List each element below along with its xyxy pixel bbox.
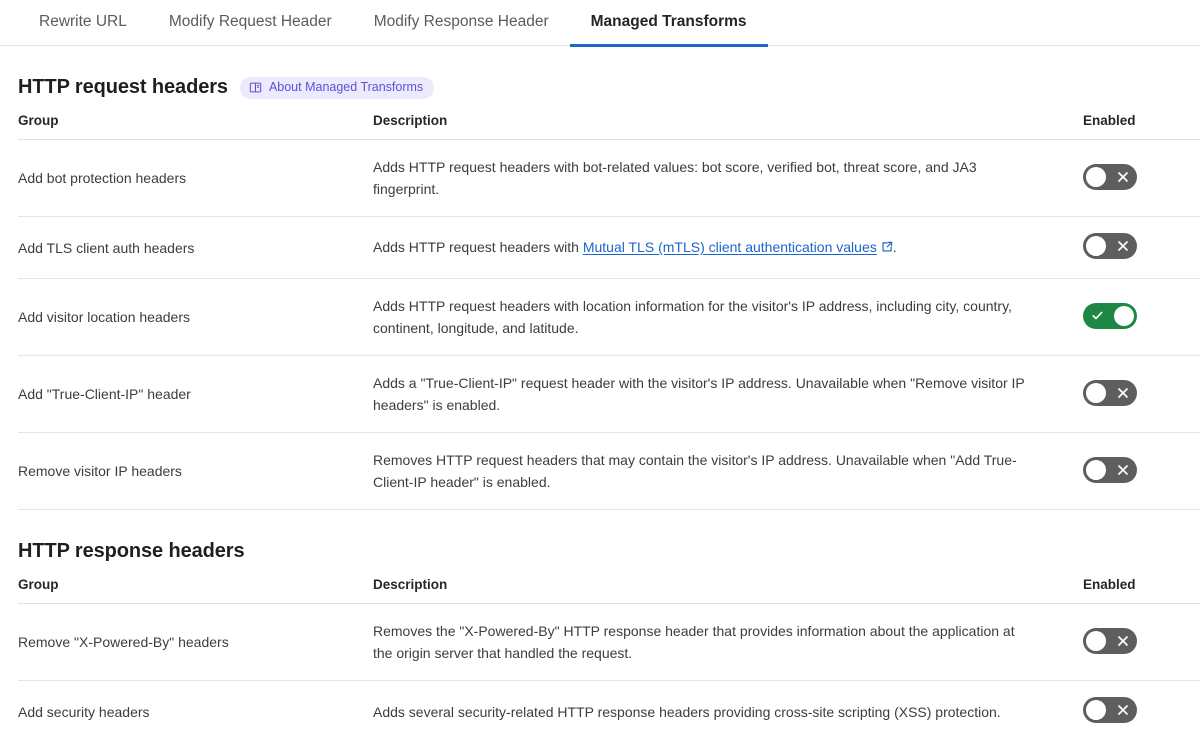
column-header-enabled: Enabled — [1083, 577, 1200, 604]
toggle-knob — [1086, 631, 1106, 651]
tab-modify-request-header[interactable]: Modify Request Header — [148, 0, 353, 46]
toggle-remove-x-powered-by-headers[interactable] — [1083, 628, 1137, 654]
toggle-add-tls-client-auth-headers[interactable] — [1083, 233, 1137, 259]
tab-bar: Rewrite URL Modify Request Header Modify… — [0, 0, 1200, 46]
row-enabled-cell — [1083, 217, 1200, 279]
row-description: Adds several security-related HTTP respo… — [373, 681, 1083, 742]
http-response-headers-section: HTTP response headers Group Description … — [0, 540, 1200, 742]
close-icon — [1117, 457, 1129, 483]
http-request-headers-section: HTTP request headers About Managed Trans… — [0, 76, 1200, 510]
request-section-header: HTTP request headers About Managed Trans… — [18, 76, 1182, 99]
row-description: Removes HTTP request headers that may co… — [373, 433, 1083, 510]
close-icon — [1117, 697, 1129, 723]
about-managed-transforms-link[interactable]: About Managed Transforms — [240, 77, 434, 99]
description-text-before: Adds HTTP request headers with — [373, 239, 583, 255]
table-row: Add TLS client auth headers Adds HTTP re… — [18, 217, 1200, 279]
row-enabled-cell — [1083, 279, 1200, 356]
row-enabled-cell — [1083, 681, 1200, 742]
toggle-add-true-client-ip-header[interactable] — [1083, 380, 1137, 406]
column-header-description: Description — [373, 113, 1083, 140]
table-header-row: Group Description Enabled — [18, 113, 1200, 140]
close-icon — [1117, 628, 1129, 654]
about-pill-label: About Managed Transforms — [269, 80, 423, 95]
close-icon — [1117, 164, 1129, 190]
toggle-knob — [1086, 236, 1106, 256]
row-description: Adds HTTP request headers with bot-relat… — [373, 140, 1083, 217]
response-headers-table: Group Description Enabled Remove "X-Powe… — [18, 577, 1200, 742]
toggle-knob — [1114, 306, 1134, 326]
check-icon — [1091, 303, 1104, 329]
description-text-after: . — [893, 239, 897, 255]
table-header-row: Group Description Enabled — [18, 577, 1200, 604]
row-group-label: Remove visitor IP headers — [18, 433, 373, 510]
close-icon — [1117, 380, 1129, 406]
column-header-description: Description — [373, 577, 1083, 604]
toggle-knob — [1086, 700, 1106, 720]
toggle-knob — [1086, 383, 1106, 403]
toggle-knob — [1086, 167, 1106, 187]
column-header-enabled: Enabled — [1083, 113, 1200, 140]
book-icon — [249, 81, 262, 94]
table-row: Remove visitor IP headers Removes HTTP r… — [18, 433, 1200, 510]
toggle-remove-visitor-ip-headers[interactable] — [1083, 457, 1137, 483]
row-group-label: Add TLS client auth headers — [18, 217, 373, 279]
row-group-label: Add bot protection headers — [18, 140, 373, 217]
toggle-add-visitor-location-headers[interactable] — [1083, 303, 1137, 329]
row-description: Removes the "X-Powered-By" HTTP response… — [373, 604, 1083, 681]
response-section-header: HTTP response headers — [18, 540, 1182, 563]
row-enabled-cell — [1083, 356, 1200, 433]
row-description: Adds HTTP request headers with location … — [373, 279, 1083, 356]
table-row: Add security headers Adds several securi… — [18, 681, 1200, 742]
response-section-title: HTTP response headers — [18, 540, 245, 563]
row-description: Adds a "True-Client-IP" request header w… — [373, 356, 1083, 433]
row-group-label: Remove "X-Powered-By" headers — [18, 604, 373, 681]
tab-rewrite-url[interactable]: Rewrite URL — [18, 0, 148, 46]
external-link-icon[interactable] — [881, 237, 893, 259]
row-group-label: Add security headers — [18, 681, 373, 742]
row-description: Adds HTTP request headers with Mutual TL… — [373, 217, 1083, 279]
row-enabled-cell — [1083, 140, 1200, 217]
row-group-label: Add "True-Client-IP" header — [18, 356, 373, 433]
table-row: Add bot protection headers Adds HTTP req… — [18, 140, 1200, 217]
toggle-knob — [1086, 460, 1106, 480]
table-row: Add visitor location headers Adds HTTP r… — [18, 279, 1200, 356]
row-enabled-cell — [1083, 604, 1200, 681]
toggle-add-bot-protection-headers[interactable] — [1083, 164, 1137, 190]
close-icon — [1117, 233, 1129, 259]
toggle-add-security-headers[interactable] — [1083, 697, 1137, 723]
page-title: HTTP request headers — [18, 76, 228, 99]
column-header-group: Group — [18, 113, 373, 140]
mtls-documentation-link[interactable]: Mutual TLS (mTLS) client authentication … — [583, 239, 877, 255]
tab-modify-response-header[interactable]: Modify Response Header — [353, 0, 570, 46]
table-row: Remove "X-Powered-By" headers Removes th… — [18, 604, 1200, 681]
table-row: Add "True-Client-IP" header Adds a "True… — [18, 356, 1200, 433]
row-enabled-cell — [1083, 433, 1200, 510]
row-group-label: Add visitor location headers — [18, 279, 373, 356]
request-headers-table: Group Description Enabled Add bot protec… — [18, 113, 1200, 510]
tab-managed-transforms[interactable]: Managed Transforms — [570, 0, 768, 46]
column-header-group: Group — [18, 577, 373, 604]
